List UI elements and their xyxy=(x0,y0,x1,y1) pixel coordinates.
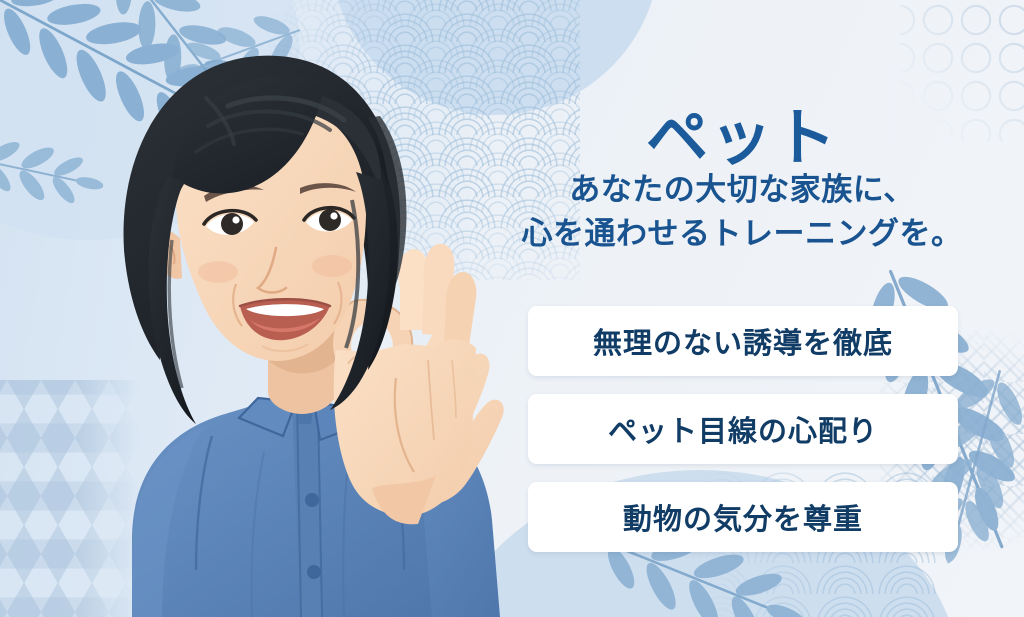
feature-card-list: 無理のない誘導を徹底 ペット目線の心配り 動物の気分を尊重 xyxy=(528,306,958,552)
subtitle-line-1: あなたの大切な家族に、 xyxy=(500,168,984,212)
woman-illustration xyxy=(0,0,520,617)
feature-card-1[interactable]: 無理のない誘導を徹底 xyxy=(528,306,958,376)
subtitle: あなたの大切な家族に、 心を通わせるトレーニングを。 xyxy=(500,168,984,256)
page-title: ペット xyxy=(500,108,984,170)
feature-card-1-label: 無理のない誘導を徹底 xyxy=(593,320,893,362)
feature-card-3-label: 動物の気分を尊重 xyxy=(623,496,863,538)
subtitle-line-2: 心を通わせるトレーニングを。 xyxy=(500,212,984,256)
pet-training-banner: ペット あなたの大切な家族に、 心を通わせるトレーニングを。 無理のない誘導を徹… xyxy=(0,0,1024,617)
feature-card-3[interactable]: 動物の気分を尊重 xyxy=(528,482,958,552)
feature-card-2-label: ペット目線の心配り xyxy=(608,408,878,450)
text-column: ペット あなたの大切な家族に、 心を通わせるトレーニングを。 無理のない誘導を徹… xyxy=(500,0,1024,617)
feature-card-2[interactable]: ペット目線の心配り xyxy=(528,394,958,464)
